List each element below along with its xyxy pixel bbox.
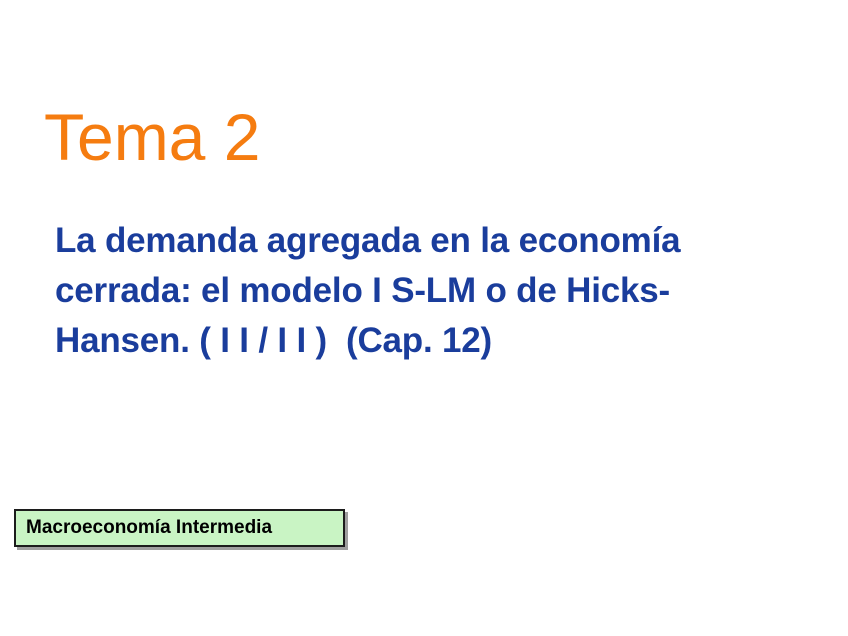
presentation-slide: Tema 2 La demanda agregada en la economí… [0,0,848,636]
page-title: Tema 2 [44,104,260,170]
slide-subtitle: La demanda agregada en la economía cerra… [55,216,815,366]
footer-badge: Macroeconomía Intermedia [14,509,345,547]
subtitle-line-2: cerrada: el modelo I S-LM o de Hicks- [55,266,815,316]
subtitle-line-1: La demanda agregada en la economía [55,216,815,266]
footer-badge-label: Macroeconomía Intermedia [16,517,272,539]
subtitle-line-3: Hansen. ( I I / I I ) (Cap. 12) [55,316,815,366]
